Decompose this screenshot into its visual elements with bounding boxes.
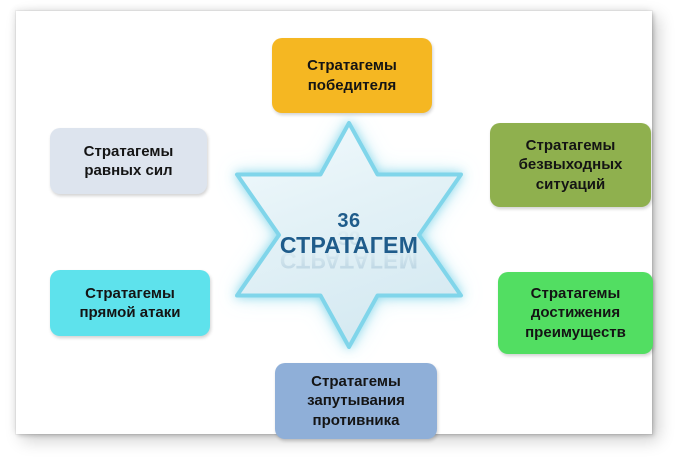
node-label: Стратагемы равных сил — [84, 142, 174, 180]
node-equal-forces-strategies[interactable]: Стратагемы равных сил — [50, 128, 207, 194]
diagram-card: 36 СТРАТАГЕМ 36 СТРАТАГЕМ Стратагемы поб… — [16, 11, 652, 434]
node-direct-attack-strategies[interactable]: Стратагемы прямой атаки — [50, 270, 210, 336]
node-hopeless-situations-strategies[interactable]: Стратагемы безвыходных ситуаций — [490, 123, 651, 207]
node-label: Стратагемы прямой атаки — [80, 284, 181, 322]
node-gaining-advantage-strategies[interactable]: Стратагемы достижения преимуществ — [498, 272, 653, 354]
diagram-root: 36 СТРАТАГЕМ 36 СТРАТАГЕМ Стратагемы поб… — [0, 0, 690, 473]
node-confusing-enemy-strategies[interactable]: Стратагемы запутывания противника — [275, 363, 437, 439]
center-star: 36 СТРАТАГЕМ 36 СТРАТАГЕМ — [211, 108, 487, 362]
node-winner-strategies[interactable]: Стратагемы победителя — [272, 38, 432, 113]
node-label: Стратагемы запутывания противника — [307, 372, 405, 430]
node-label: Стратагемы победителя — [307, 56, 397, 94]
node-label: Стратагемы достижения преимуществ — [525, 284, 626, 342]
node-label: Стратагемы безвыходных ситуаций — [519, 136, 623, 194]
